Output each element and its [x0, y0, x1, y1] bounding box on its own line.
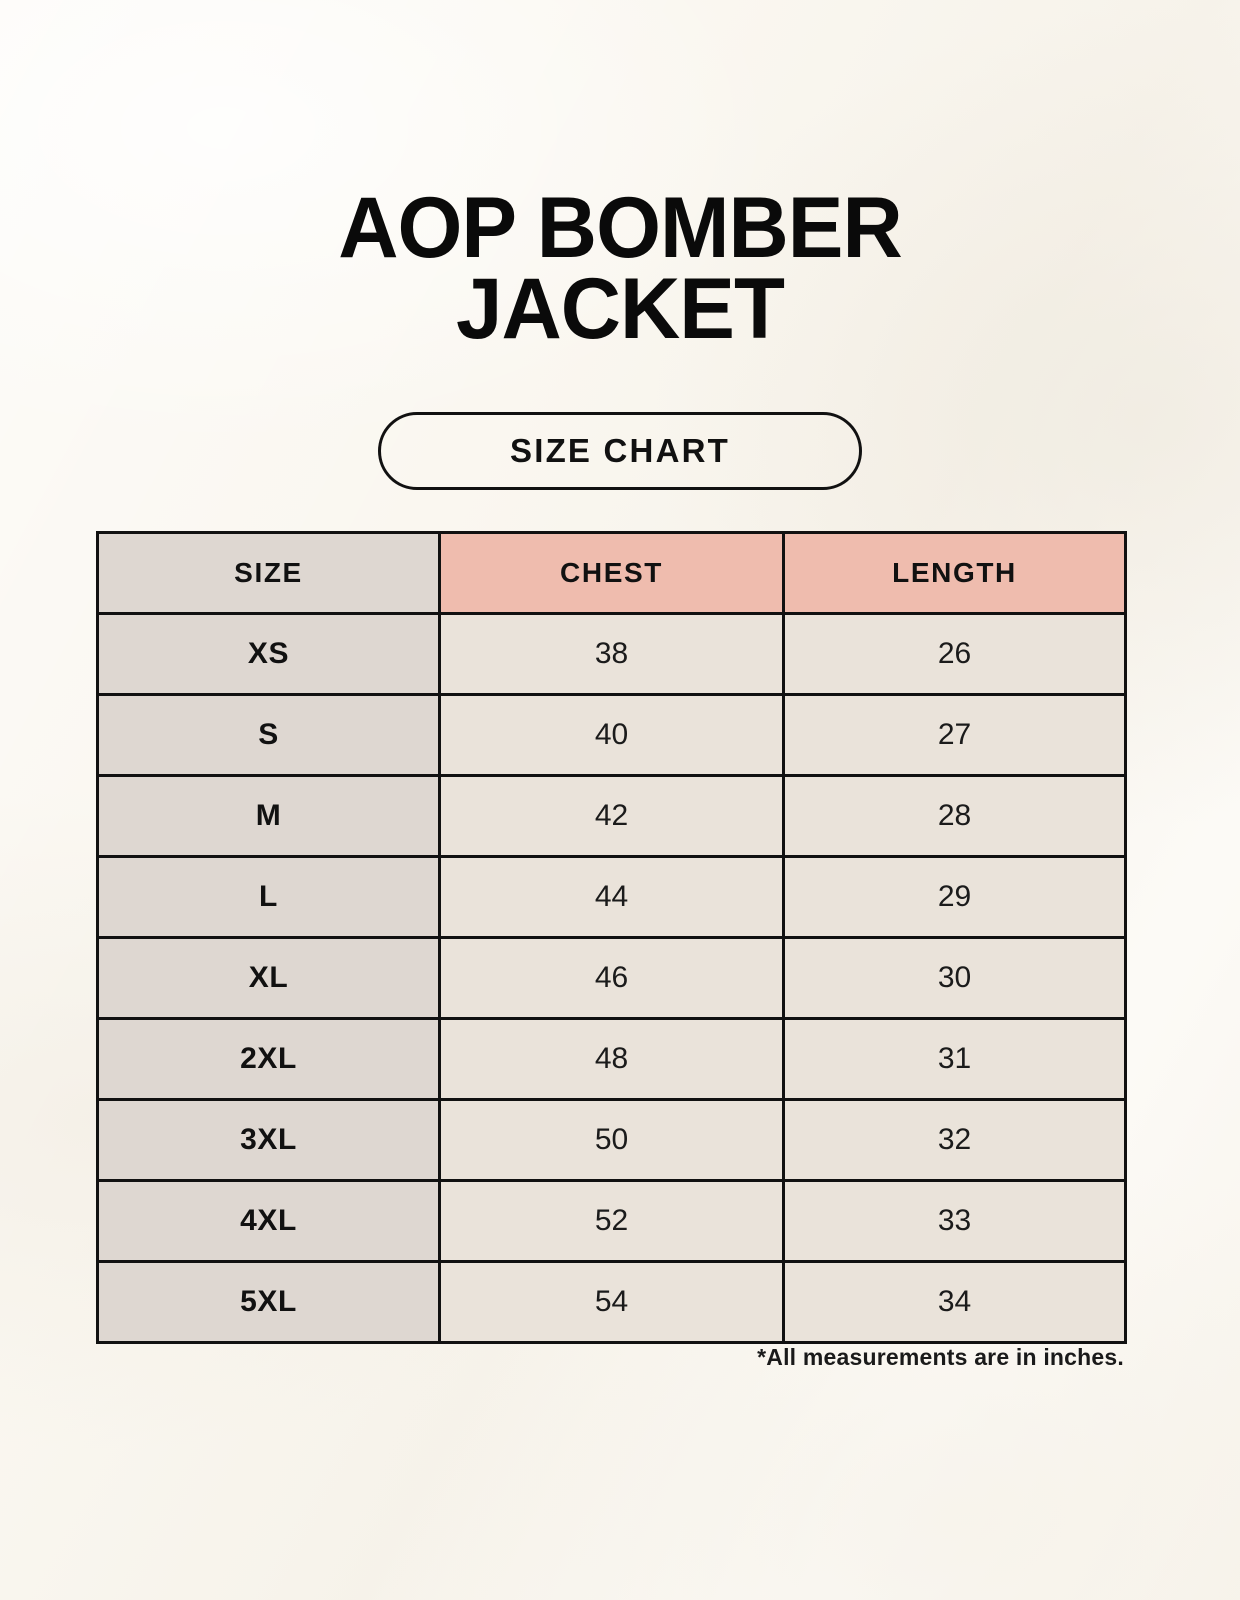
cell-chest: 48: [440, 1019, 784, 1100]
cell-length: 30: [784, 938, 1126, 1019]
cell-size: 3XL: [98, 1100, 440, 1181]
cell-length: 32: [784, 1100, 1126, 1181]
column-header-chest: CHEST: [440, 533, 784, 614]
cell-length: 28: [784, 776, 1126, 857]
size-chart-badge: SIZE CHART: [378, 412, 862, 490]
column-header-size: SIZE: [98, 533, 440, 614]
table-row: 4XL 52 33: [98, 1181, 1126, 1262]
cell-chest: 46: [440, 938, 784, 1019]
table-header: SIZE CHEST LENGTH: [98, 533, 1126, 614]
measurements-footnote: *All measurements are in inches.: [757, 1344, 1124, 1371]
table-header-row: SIZE CHEST LENGTH: [98, 533, 1126, 614]
cell-size: XL: [98, 938, 440, 1019]
cell-size: S: [98, 695, 440, 776]
cell-size: 4XL: [98, 1181, 440, 1262]
cell-size: M: [98, 776, 440, 857]
cell-chest: 38: [440, 614, 784, 695]
column-header-length: LENGTH: [784, 533, 1126, 614]
cell-length: 34: [784, 1262, 1126, 1343]
page-title: AOP BOMBER JACKET: [0, 188, 1240, 350]
table-row: 3XL 50 32: [98, 1100, 1126, 1181]
table-body: XS 38 26 S 40 27 M 42 28 L 44 29: [98, 614, 1126, 1343]
table-row: 5XL 54 34: [98, 1262, 1126, 1343]
size-chart-table-container: SIZE CHEST LENGTH XS 38 26 S 40 27 M: [96, 531, 1124, 1344]
cell-chest: 50: [440, 1100, 784, 1181]
cell-length: 33: [784, 1181, 1126, 1262]
cell-length: 26: [784, 614, 1126, 695]
cell-size: 5XL: [98, 1262, 440, 1343]
table-row: XS 38 26: [98, 614, 1126, 695]
cell-size: XS: [98, 614, 440, 695]
size-chart-page: AOP BOMBER JACKET SIZE CHART SIZE CHEST …: [0, 0, 1240, 1600]
table-row: XL 46 30: [98, 938, 1126, 1019]
cell-size: 2XL: [98, 1019, 440, 1100]
cell-chest: 42: [440, 776, 784, 857]
table-row: 2XL 48 31: [98, 1019, 1126, 1100]
page-title-line-1: AOP BOMBER: [19, 188, 1222, 269]
cell-chest: 44: [440, 857, 784, 938]
cell-size: L: [98, 857, 440, 938]
size-chart-badge-label: SIZE CHART: [510, 432, 730, 470]
cell-chest: 40: [440, 695, 784, 776]
size-chart-table: SIZE CHEST LENGTH XS 38 26 S 40 27 M: [96, 531, 1127, 1344]
size-chart-badge-container: SIZE CHART: [0, 412, 1240, 490]
table-row: L 44 29: [98, 857, 1126, 938]
page-title-line-2: JACKET: [19, 269, 1222, 350]
cell-length: 31: [784, 1019, 1126, 1100]
cell-length: 29: [784, 857, 1126, 938]
table-row: S 40 27: [98, 695, 1126, 776]
cell-chest: 54: [440, 1262, 784, 1343]
cell-chest: 52: [440, 1181, 784, 1262]
table-row: M 42 28: [98, 776, 1126, 857]
cell-length: 27: [784, 695, 1126, 776]
